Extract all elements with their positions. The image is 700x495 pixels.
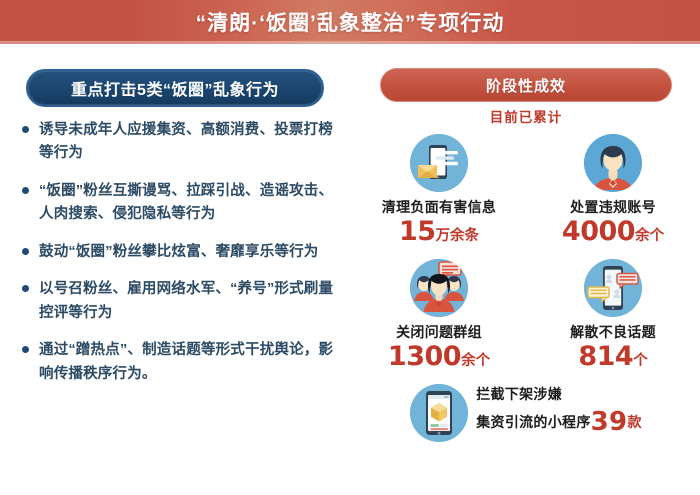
right-panel: 阶段性成效 目前已累计 <box>352 44 700 495</box>
user-group-chat-icon <box>410 259 468 317</box>
stat-cell: 处置违规账号 4000余个 <box>526 128 700 245</box>
stat-value: 15万余条 <box>399 218 479 245</box>
stat-unit: 余个 <box>635 228 664 244</box>
stat-value: 4000余个 <box>562 218 664 245</box>
title-banner: “清朗·‘饭圈’乱象整治”专项行动 <box>0 0 700 44</box>
stat-unit: 个 <box>633 353 648 369</box>
list-item: 以号召粉丝、雇用网络水军、“养号”形式刷量控评等行为 <box>22 278 342 325</box>
wide-stat-line1: 拦截下架涉嫌 <box>476 384 642 404</box>
stat-row: 清理负面有害信息 15万余条 <box>352 128 700 245</box>
bullet-dot-icon <box>22 285 29 292</box>
list-item-text: “饭圈”粉丝互撕谩骂、拉踩引战、造谣攻击、人肉搜索、侵犯隐私等行为 <box>39 180 342 227</box>
list-item-text: 以号召粉丝、雇用网络水军、“养号”形式刷量控评等行为 <box>39 278 342 325</box>
stat-unit: 万余条 <box>436 228 480 244</box>
stat-cell: 清理负面有害信息 15万余条 <box>352 128 526 245</box>
stat-row: 关闭问题群组 1300余个 <box>352 253 700 370</box>
stat-label: 清理负面有害信息 <box>382 197 496 217</box>
wide-stat-number: 39 <box>591 407 628 437</box>
wide-stat-line2: 集资引流的小程序 <box>476 414 590 430</box>
left-panel-header-pill: 重点打击5类“饭圈”乱象行为 <box>26 69 324 107</box>
stat-label: 处置违规账号 <box>570 197 656 217</box>
content-body: 重点打击5类“饭圈”乱象行为 诱导未成年人应援集资、高额消费、投票打榜等行为 “… <box>0 44 700 495</box>
stat-cell: 解散不良话题 814个 <box>526 253 700 370</box>
stat-label: 解散不良话题 <box>570 322 656 342</box>
right-panel-subtitle: 目前已累计 <box>352 106 700 126</box>
list-item: 通过“蹭热点”、制造话题等形式干扰舆论，影响传播秩序行为。 <box>22 339 342 386</box>
page-title: “清朗·‘饭圈’乱象整治”专项行动 <box>196 7 505 37</box>
left-panel: 重点打击5类“饭圈”乱象行为 诱导未成年人应援集资、高额消费、投票打榜等行为 “… <box>0 44 352 495</box>
bullet-dot-icon <box>22 126 29 133</box>
stat-value: 814个 <box>578 343 647 370</box>
stat-number: 1300 <box>388 341 461 372</box>
phone-miniprogram-icon <box>410 384 468 442</box>
bullet-dot-icon <box>22 248 29 255</box>
stat-unit: 余个 <box>461 353 490 369</box>
stat-row-wide: 拦截下架涉嫌 集资引流的小程序39款 <box>352 380 700 442</box>
left-panel-header-label: 重点打击5类“饭圈”乱象行为 <box>71 76 279 100</box>
wide-stat-line2-row: 集资引流的小程序39款 <box>476 404 642 442</box>
right-panel-header-pill: 阶段性成效 <box>380 68 672 102</box>
list-item-text: 鼓动“饭圈”粉丝攀比炫富、奢靡享乐等行为 <box>39 241 319 264</box>
bullet-dot-icon <box>22 346 29 353</box>
stat-number: 814 <box>578 341 633 372</box>
list-item: “饭圈”粉丝互撕谩骂、拉踩引战、造谣攻击、人肉搜索、侵犯隐私等行为 <box>22 180 342 227</box>
phone-chat-bubbles-icon <box>584 259 642 317</box>
stat-value: 1300余个 <box>388 343 490 370</box>
list-item: 诱导未成年人应援集资、高额消费、投票打榜等行为 <box>22 119 342 166</box>
stat-number: 4000 <box>562 216 635 247</box>
list-item-text: 诱导未成年人应援集资、高额消费、投票打榜等行为 <box>39 119 342 166</box>
user-avatar-icon <box>584 134 642 192</box>
right-panel-header-label: 阶段性成效 <box>486 75 566 96</box>
wide-stat-unit: 款 <box>627 414 641 430</box>
stat-cell: 关闭问题群组 1300余个 <box>352 253 526 370</box>
wide-stat-text: 拦截下架涉嫌 集资引流的小程序39款 <box>476 384 642 442</box>
statistics-grid: 清理负面有害信息 15万余条 <box>352 128 700 442</box>
list-item: 鼓动“饭圈”粉丝攀比炫富、奢靡享乐等行为 <box>22 241 342 264</box>
phone-message-envelope-icon <box>410 134 468 192</box>
infographic-page: “清朗·‘饭圈’乱象整治”专项行动 重点打击5类“饭圈”乱象行为 诱导未成年人应… <box>0 0 700 495</box>
violation-list: 诱导未成年人应援集资、高额消费、投票打榜等行为 “饭圈”粉丝互撕谩骂、拉踩引战、… <box>22 119 342 400</box>
list-item-text: 通过“蹭热点”、制造话题等形式干扰舆论，影响传播秩序行为。 <box>39 339 342 386</box>
bullet-dot-icon <box>22 187 29 194</box>
stat-number: 15 <box>399 216 436 247</box>
stat-label: 关闭问题群组 <box>396 322 482 342</box>
